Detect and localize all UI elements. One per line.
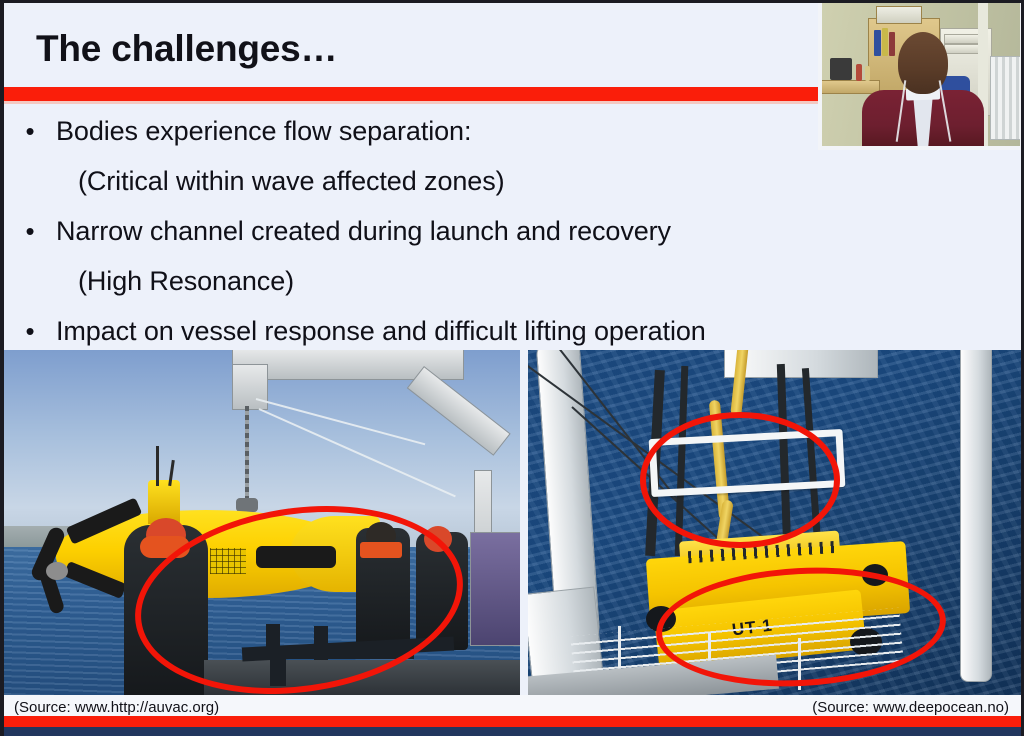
slide-border-left xyxy=(0,0,4,736)
presentation-slide: The challenges… • Bodies experience flow… xyxy=(0,0,1024,736)
desk-surface xyxy=(822,80,880,94)
crane-head xyxy=(232,364,268,410)
list-item: • Impact on vessel response and difficul… xyxy=(4,306,1020,356)
desk-item xyxy=(856,64,862,81)
page-title: The challenges… xyxy=(36,28,337,70)
auv-propeller-hub xyxy=(46,562,68,580)
photo-auv-launch xyxy=(4,350,520,695)
radiator xyxy=(990,56,1020,140)
desk-item xyxy=(830,58,852,80)
book xyxy=(882,28,888,56)
auv-antenna xyxy=(156,446,159,486)
photo-rov-ut1: UT-1 xyxy=(528,350,1021,695)
webcam-video-feed xyxy=(822,2,1020,146)
bullet-text: Bodies experience flow separation: xyxy=(56,116,471,147)
book xyxy=(874,30,881,56)
bullet-marker: • xyxy=(4,218,56,244)
footer-accent-bar xyxy=(4,716,1021,727)
list-item: (Critical within wave affected zones) xyxy=(4,156,1020,206)
photo-strip: UT-1 xyxy=(0,350,1024,695)
desk-item xyxy=(865,66,870,81)
deck-container xyxy=(470,532,520,646)
bullet-marker: • xyxy=(4,318,56,344)
lift-hook xyxy=(236,498,258,512)
presenter-webcam-overlay[interactable] xyxy=(818,0,1024,150)
footer-bar xyxy=(4,727,1021,736)
bullet-text: Narrow channel created during launch and… xyxy=(56,216,671,247)
bullet-marker: • xyxy=(4,118,56,144)
shelf-top-box xyxy=(876,6,922,24)
narrow-channel-ellipse xyxy=(640,412,840,548)
list-item: (High Resonance) xyxy=(4,256,1020,306)
a-frame-leg xyxy=(960,350,992,682)
source-caption-left: (Source: www.http://auvac.org) xyxy=(14,699,219,716)
book xyxy=(889,32,895,56)
slide-border-top xyxy=(0,0,1024,3)
bullet-text: (High Resonance) xyxy=(56,266,294,297)
bullet-text: (Critical within wave affected zones) xyxy=(56,166,504,197)
bullet-text: Impact on vessel response and difficult … xyxy=(56,316,706,347)
list-item: • Narrow channel created during launch a… xyxy=(4,206,1020,256)
source-caption-right: (Source: www.deepocean.no) xyxy=(812,699,1009,716)
lift-chain xyxy=(245,406,249,502)
